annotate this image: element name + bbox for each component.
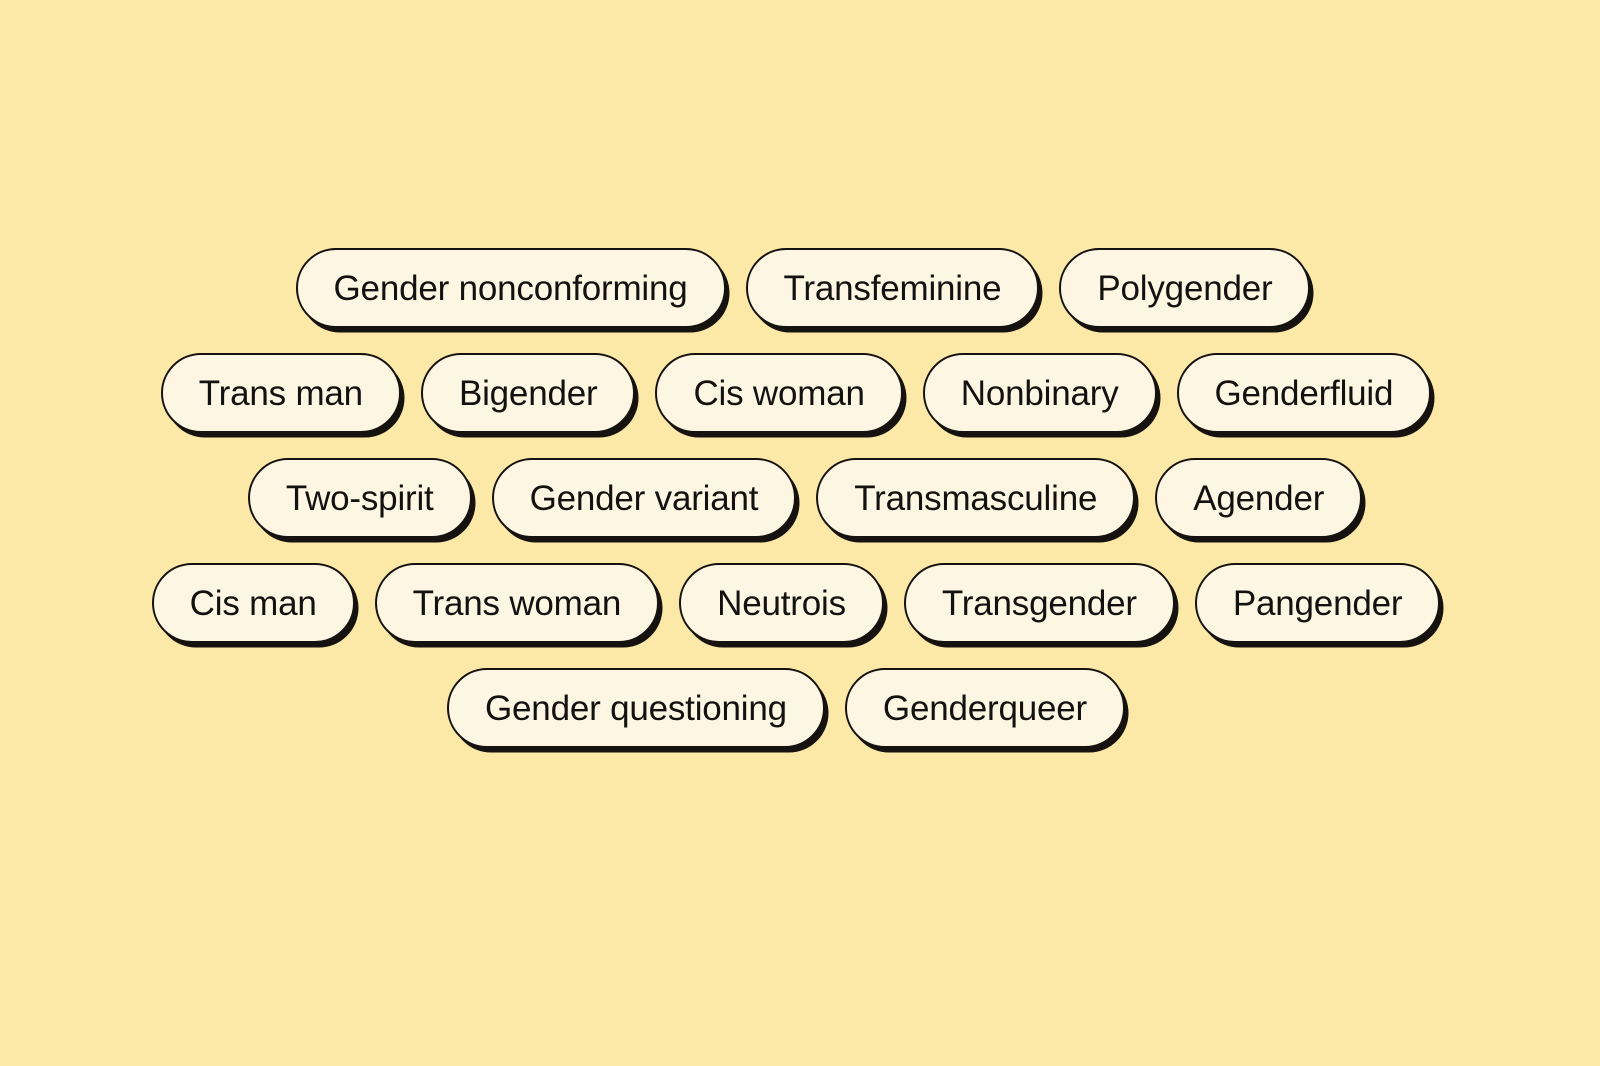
tag-label: Pangender [1233,586,1402,621]
tag-label: Gender nonconforming [334,271,688,306]
tag-pill-genderqueer[interactable]: Genderqueer [845,668,1125,748]
tag-label: Trans woman [413,586,622,621]
tag-pill-transfeminine[interactable]: Transfeminine [746,248,1040,328]
tag-label: Transmasculine [854,481,1097,516]
gender-identity-tag-cloud: Gender nonconforming Transfeminine Polyg… [0,0,1600,1066]
tag-label: Cis woman [693,376,864,411]
tag-pill-gender-questioning[interactable]: Gender questioning [447,668,825,748]
tag-row: Gender questioning Genderqueer [0,668,1600,748]
tag-pill-transmasculine[interactable]: Transmasculine [816,458,1135,538]
tag-pill-nonbinary[interactable]: Nonbinary [923,353,1157,433]
tag-pill-two-spirit[interactable]: Two-spirit [248,458,472,538]
tag-row: Cis man Trans woman Neutrois Transgender… [0,563,1600,643]
tag-row: Gender nonconforming Transfeminine Polyg… [6,248,1600,328]
tag-label: Transgender [942,586,1137,621]
tag-label: Bigender [459,376,598,411]
tag-label: Genderqueer [883,691,1087,726]
tag-row: Two-spirit Gender variant Transmasculine… [10,458,1600,538]
tag-pill-cis-man[interactable]: Cis man [152,563,355,643]
tag-pill-transgender[interactable]: Transgender [904,563,1175,643]
tag-label: Trans man [199,376,363,411]
tag-label: Two-spirit [286,481,434,516]
tag-label: Nonbinary [961,376,1119,411]
tag-pill-genderfluid[interactable]: Genderfluid [1177,353,1432,433]
tag-pill-cis-woman[interactable]: Cis woman [655,353,902,433]
tag-label: Gender variant [530,481,759,516]
tag-label: Neutrois [717,586,846,621]
tag-pill-polygender[interactable]: Polygender [1059,248,1310,328]
tag-label: Transfeminine [784,271,1002,306]
tag-pill-gender-nonconforming[interactable]: Gender nonconforming [296,248,726,328]
tag-label: Gender questioning [485,691,787,726]
tag-label: Genderfluid [1215,376,1394,411]
tag-pill-agender[interactable]: Agender [1155,458,1362,538]
tag-label: Cis man [190,586,317,621]
tag-pill-neutrois[interactable]: Neutrois [679,563,884,643]
tag-pill-bigender[interactable]: Bigender [421,353,636,433]
tag-label: Agender [1193,481,1324,516]
tag-pill-pangender[interactable]: Pangender [1195,563,1440,643]
tag-pill-trans-woman[interactable]: Trans woman [375,563,660,643]
tag-label: Polygender [1097,271,1272,306]
tag-row: Trans man Bigender Cis woman Nonbinary G… [0,353,1600,433]
tag-pill-trans-man[interactable]: Trans man [161,353,401,433]
tag-pill-gender-variant[interactable]: Gender variant [492,458,797,538]
